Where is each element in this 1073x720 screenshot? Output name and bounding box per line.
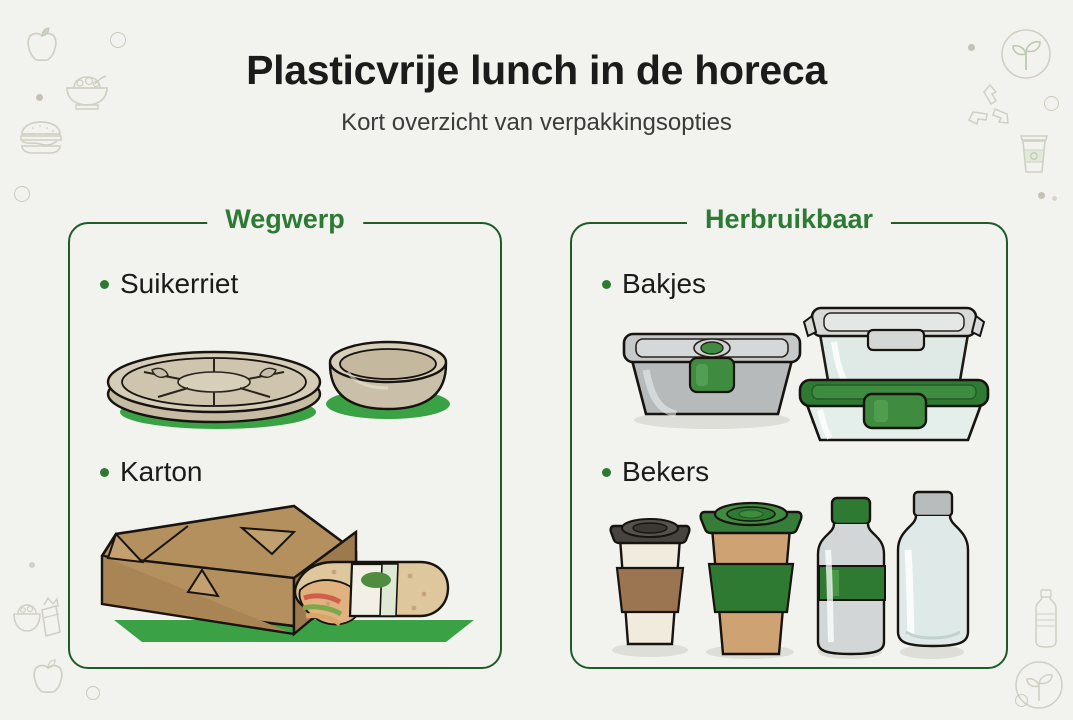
- bullet-dot-icon: [602, 468, 611, 477]
- apple-icon: [28, 656, 68, 698]
- decor-ring: [110, 32, 126, 48]
- list-item-bekers: Bekers: [602, 456, 709, 488]
- decor-ring: [86, 686, 100, 700]
- page-subtitle: Kort overzicht van verpakkingsopties: [0, 109, 1073, 137]
- decor-ring: [14, 186, 30, 202]
- illustration-steel-and-glass-containers: [602, 276, 1002, 436]
- decor-dot: [29, 562, 35, 568]
- leaf-circle-icon: [1014, 660, 1064, 710]
- panel-herbruikbaar: Herbruikbaar Bakjes: [570, 222, 1008, 669]
- list-item-karton: Karton: [100, 456, 203, 488]
- illustration-cups-and-bottles: [588, 490, 988, 660]
- illustration-kraft-box-and-wrap: [84, 494, 484, 654]
- decor-dot: [1038, 192, 1045, 199]
- page-title: Plasticvrije lunch in de horeca: [0, 48, 1073, 93]
- list-item-label: Bekers: [622, 456, 709, 488]
- bullet-dot-icon: [100, 468, 109, 477]
- decor-ring: [1015, 694, 1028, 707]
- decor-dot: [1052, 196, 1057, 201]
- list-item-suikerriet: Suikerriet: [100, 268, 238, 300]
- panel-wegwerp: Wegwerp Suikerriet: [68, 222, 502, 669]
- water-bottle-icon: [1030, 588, 1062, 650]
- bullet-dot-icon: [100, 280, 109, 289]
- panel-legend-wegwerp: Wegwerp: [207, 204, 363, 235]
- infographic-canvas: Plasticvrije lunch in de horeca Kort ove…: [0, 0, 1073, 720]
- illustration-bagasse-plate-and-bowl: [88, 302, 488, 432]
- panel-legend-herbruikbaar: Herbruikbaar: [687, 204, 891, 235]
- header: Plasticvrije lunch in de horeca Kort ove…: [0, 48, 1073, 137]
- fries-bag-icon: [10, 596, 66, 640]
- list-item-label: Karton: [120, 456, 203, 488]
- list-item-label: Suikerriet: [120, 268, 238, 300]
